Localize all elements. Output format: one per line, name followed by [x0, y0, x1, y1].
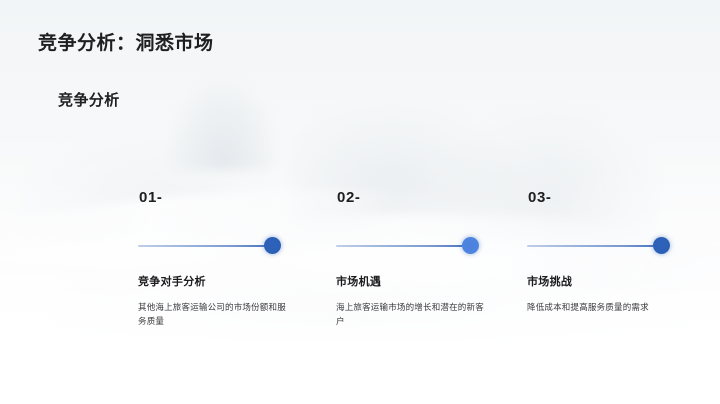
progress-knob-icon[interactable] [264, 237, 281, 254]
item-heading: 竞争对手分析 [138, 275, 328, 289]
item-description: 海上旅客运输市场的增长和潜在的新客户 [336, 300, 488, 328]
timeline-item: 01- 竞争对手分析 其他海上旅客运输公司的市场份额和服务质量 [138, 190, 328, 328]
item-number-label: 02- [337, 190, 526, 205]
progress-knob-icon[interactable] [653, 237, 670, 254]
timeline-item: 03- 市场挑战 降低成本和提高服务质量的需求 [527, 190, 717, 314]
progress-track [336, 245, 470, 247]
progress-knob-icon[interactable] [462, 237, 479, 254]
item-description: 降低成本和提高服务质量的需求 [527, 300, 703, 314]
slide-content: 竞争分析：洞悉市场 竞争分析 01- 竞争对手分析 其他海上旅客运输公司的市场份… [0, 0, 720, 404]
item-description: 其他海上旅客运输公司的市场份额和服务质量 [138, 300, 290, 328]
timeline-item-list: 01- 竞争对手分析 其他海上旅客运输公司的市场份额和服务质量 02- 市场机遇… [0, 0, 720, 404]
item-heading: 市场挑战 [527, 275, 717, 289]
progress-track-wrap [336, 236, 526, 256]
item-number-label: 01- [139, 190, 328, 205]
progress-track [138, 245, 272, 247]
progress-track [527, 245, 661, 247]
timeline-item: 02- 市场机遇 海上旅客运输市场的增长和潜在的新客户 [336, 190, 526, 328]
progress-track-wrap [138, 236, 328, 256]
item-number-label: 03- [528, 190, 717, 205]
progress-track-wrap [527, 236, 717, 256]
item-heading: 市场机遇 [336, 275, 526, 289]
presentation-slide: 竞争分析：洞悉市场 竞争分析 01- 竞争对手分析 其他海上旅客运输公司的市场份… [0, 0, 720, 404]
